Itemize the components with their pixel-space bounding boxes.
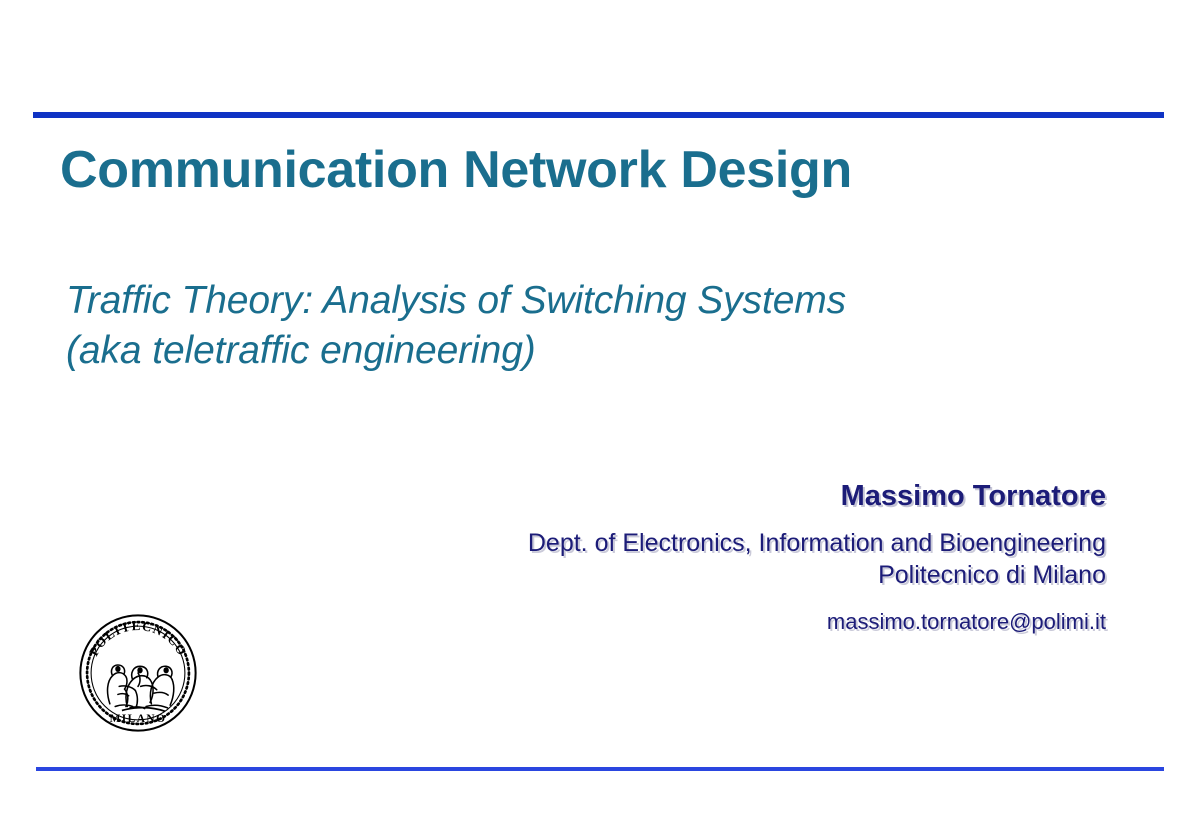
bottom-divider-rule — [36, 767, 1164, 771]
page-title: Communication Network Design — [60, 143, 1120, 197]
affiliation-institution: Politecnico di Milano — [528, 559, 1106, 591]
author-email: massimo.tornatore@polimi.it — [528, 609, 1106, 635]
subtitle-line-2: (aka teletraffic engineering) — [66, 326, 1146, 376]
title-slide: Communication Network Design Traffic The… — [0, 0, 1200, 831]
author-block: Massimo Tornatore Dept. of Electronics, … — [528, 480, 1106, 635]
subtitle-block: Traffic Theory: Analysis of Switching Sy… — [66, 276, 1146, 375]
politecnico-seal-logo: POLITECNICO — [71, 606, 205, 740]
seal-bottom-text: MILANO — [110, 713, 167, 725]
author-name: Massimo Tornatore — [528, 480, 1106, 513]
affiliation-department: Dept. of Electronics, Information and Bi… — [528, 527, 1106, 559]
politecnico-seal-icon: POLITECNICO — [71, 606, 205, 740]
top-divider-rule — [33, 112, 1164, 118]
title-block: Communication Network Design — [60, 143, 1120, 197]
subtitle-line-1: Traffic Theory: Analysis of Switching Sy… — [66, 276, 1146, 326]
